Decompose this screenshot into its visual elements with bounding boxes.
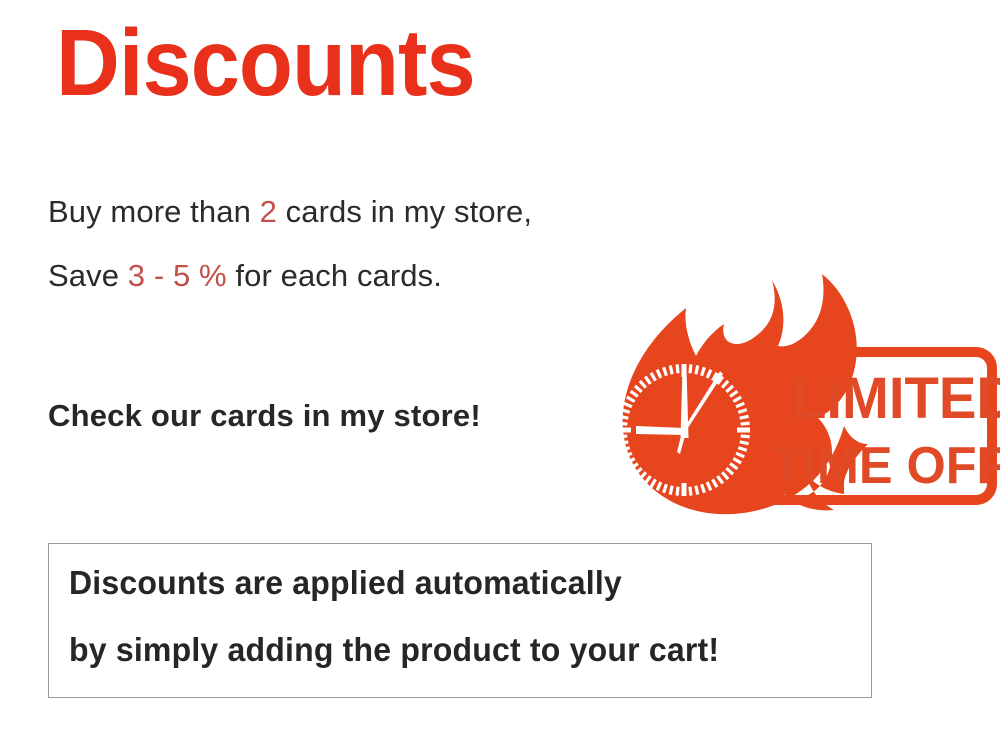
terms-line-savings: Save 3 - 5 % for each cards. <box>48 260 688 291</box>
offer-label-line2: TIME OFFER <box>772 436 1000 494</box>
terms-line-savings-suffix: for each cards. <box>227 258 442 293</box>
savings-percent-value: 3 - 5 % <box>128 258 227 293</box>
terms-line-savings-prefix: Save <box>48 258 128 293</box>
auto-discount-note-box: Discounts are applied automatically by s… <box>48 543 872 698</box>
offer-label-line1: LIMITED <box>792 366 1000 431</box>
limited-time-offer-badge: LIMITED TIME OFFER <box>596 262 1000 524</box>
minimum-quantity-value: 2 <box>260 194 277 229</box>
discount-terms: Buy more than 2 cards in my store, Save … <box>48 196 688 324</box>
terms-line-quantity-prefix: Buy more than <box>48 194 260 229</box>
terms-line-quantity-suffix: cards in my store, <box>277 194 532 229</box>
page-title: Discounts <box>56 16 475 111</box>
terms-line-quantity: Buy more than 2 cards in my store, <box>48 196 688 227</box>
flame-clock-icon: LIMITED TIME OFFER <box>596 262 1000 524</box>
auto-discount-note-line-1: Discounts are applied automatically <box>69 566 835 599</box>
store-cta-text: Check our cards in my store! <box>48 400 481 431</box>
auto-discount-note-line-2: by simply adding the product to your car… <box>69 633 835 666</box>
auto-discount-note: Discounts are applied automatically by s… <box>69 566 859 700</box>
discount-banner: Discounts Buy more than 2 cards in my st… <box>0 0 1000 755</box>
